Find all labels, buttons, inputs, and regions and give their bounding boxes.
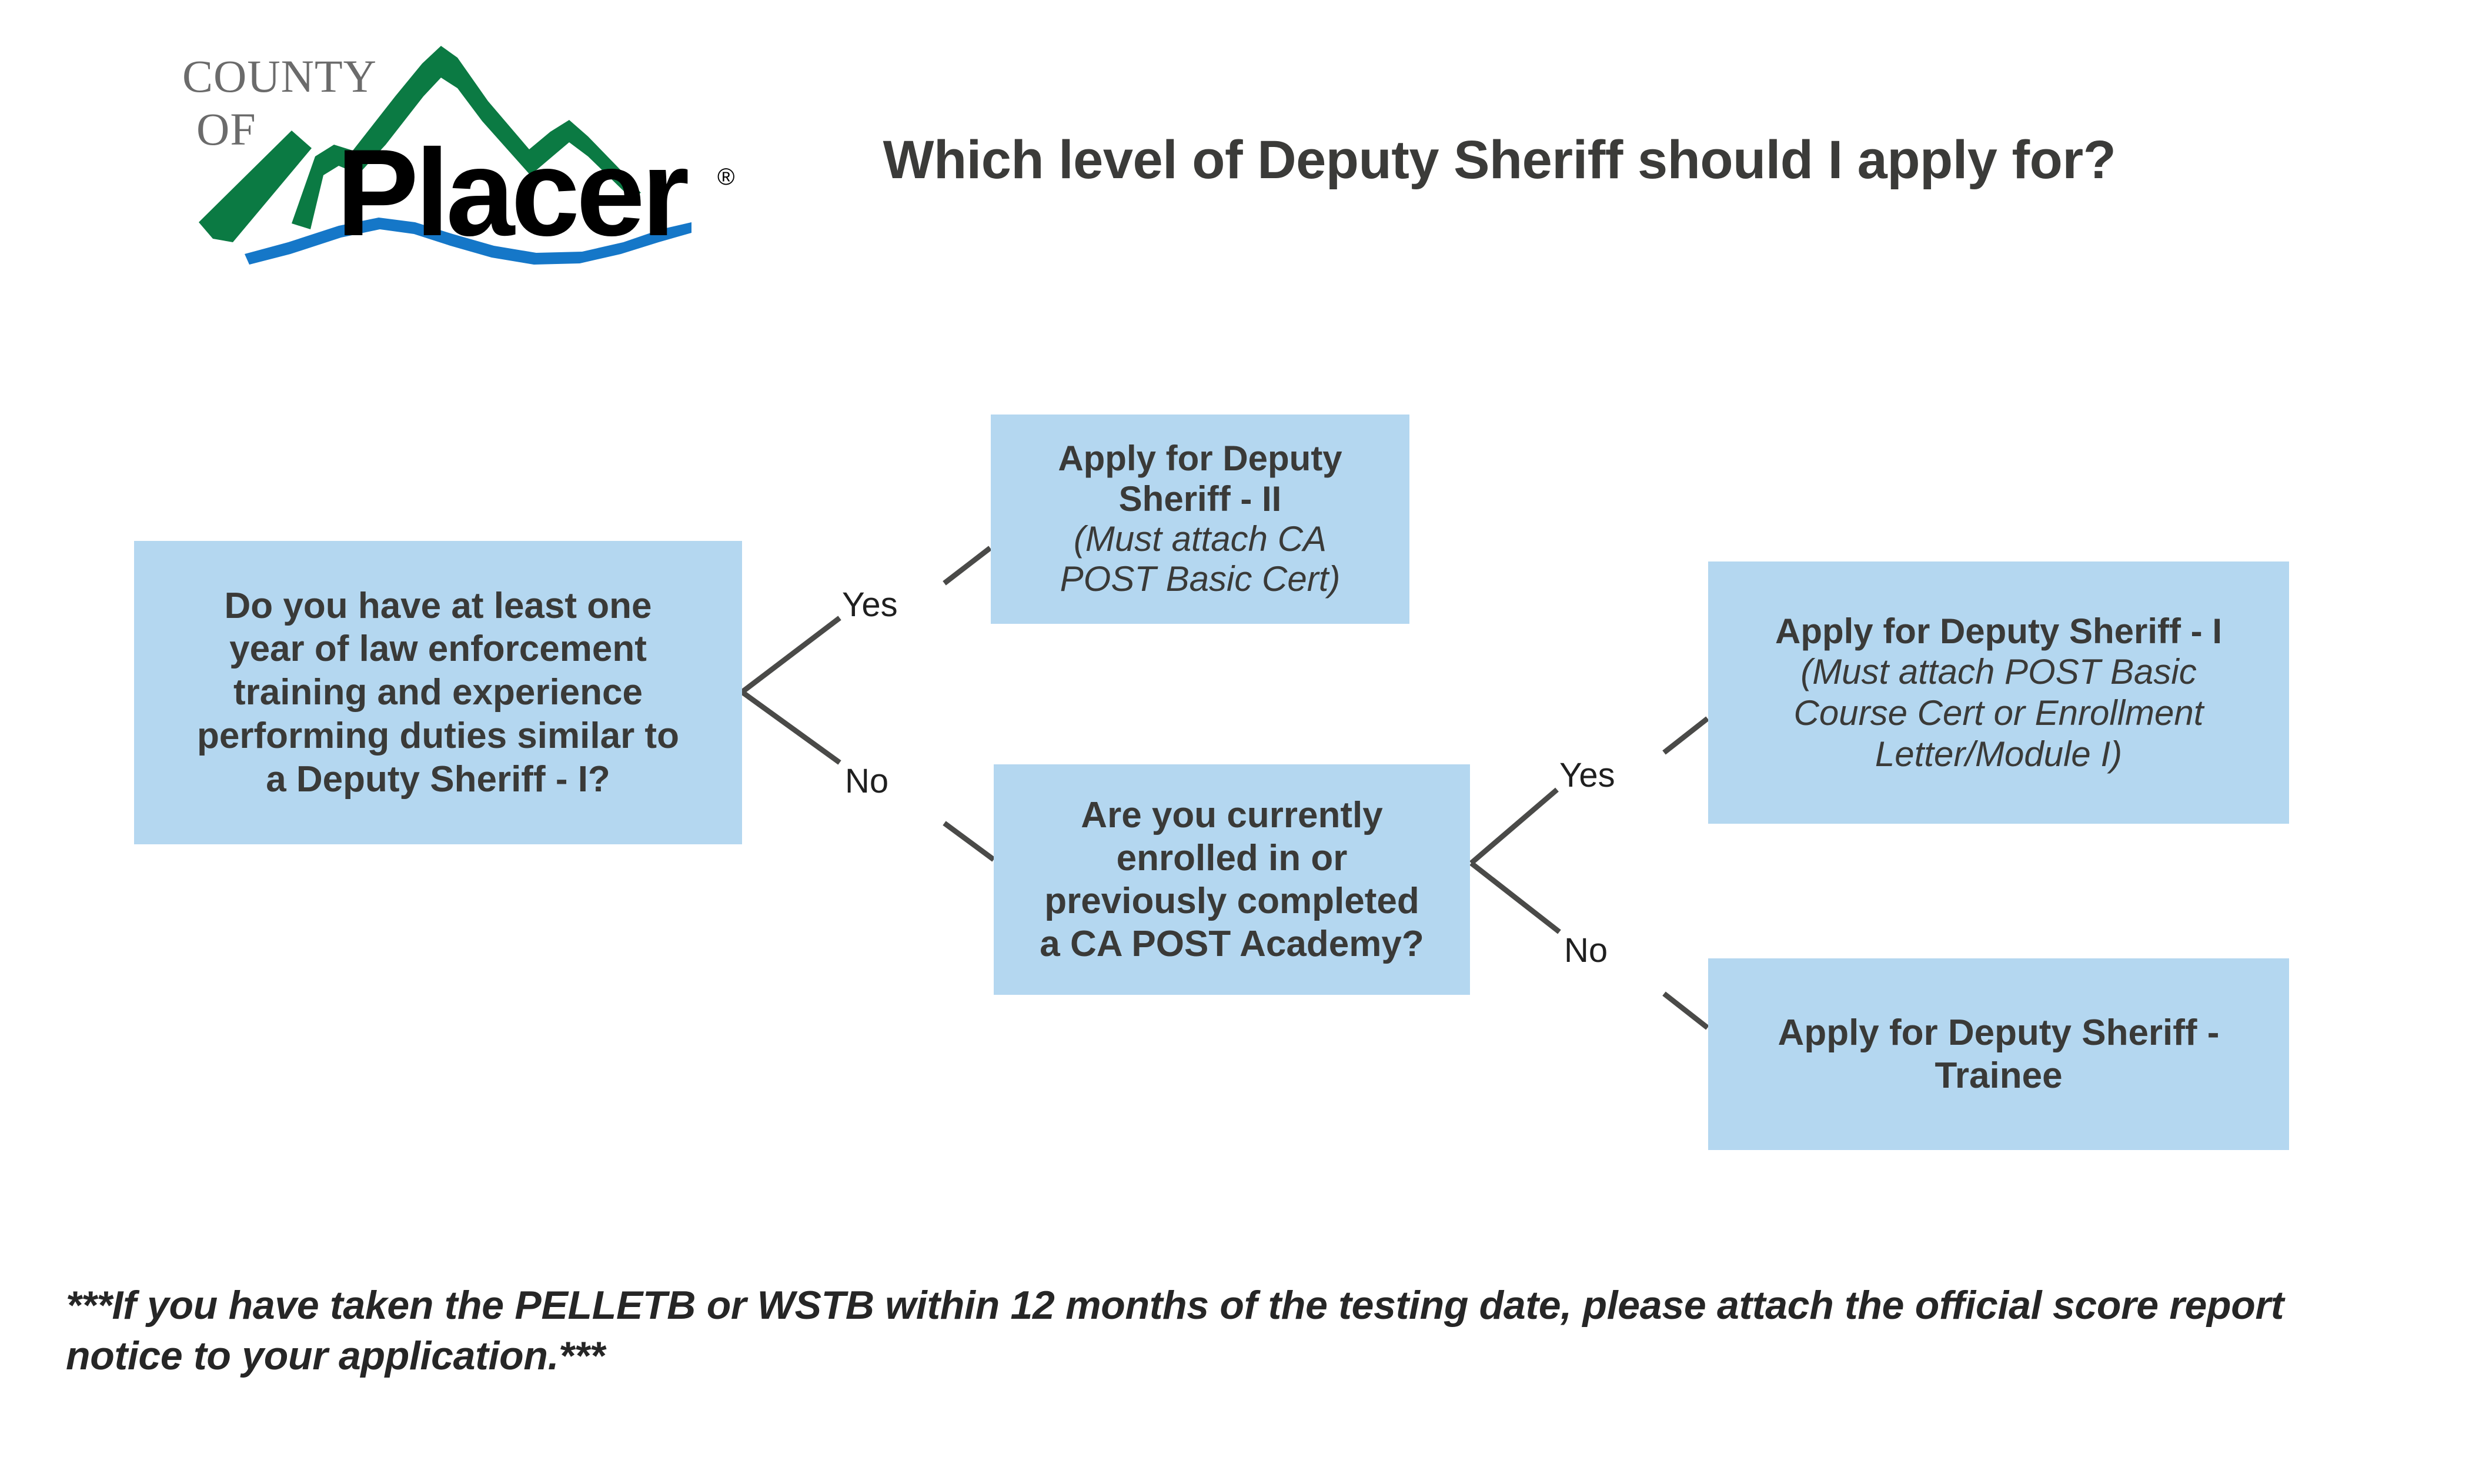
decision2-line-2: enrolled in or <box>1000 837 1464 880</box>
decision-box-academy: Are you currently enrolled in or previou… <box>994 764 1470 995</box>
outcome-box-deputy-sheriff-1: Apply for Deputy Sheriff - I (Must attac… <box>1708 561 2289 824</box>
ds1-note-line-1: (Must attach POST Basic <box>1714 651 2283 693</box>
branch-label-decision1-no: No <box>845 764 888 798</box>
ds1-note-line-3: Letter/Module I) <box>1714 734 2283 775</box>
edge-d2-yes-b <box>1664 718 1708 753</box>
outcome-box-deputy-sheriff-trainee: Apply for Deputy Sheriff - Trainee <box>1708 958 2289 1150</box>
ds2-note-line-2: POST Basic Cert) <box>997 559 1404 599</box>
registered-mark-icon: ® <box>717 164 734 190</box>
ds2-heading-line-2: Sheriff - II <box>997 479 1404 519</box>
edge-d2-no-a <box>1471 863 1559 932</box>
edge-d2-no-b <box>1664 994 1708 1028</box>
logo-of-line: OF <box>196 103 256 155</box>
decision1-line-4: performing duties similar to <box>140 714 736 758</box>
placer-county-logo: COUNTY OF Placer ® <box>176 35 753 282</box>
decision1-line-1: Do you have at least one <box>140 584 736 628</box>
decision-box-experience: Do you have at least one year of law enf… <box>134 541 742 844</box>
footnote-line-2: notice to your application.*** <box>66 1331 2418 1382</box>
ds2-heading-line-1: Apply for Deputy <box>997 439 1404 479</box>
decision2-line-1: Are you currently <box>1000 794 1464 837</box>
footnote-line-1: ***If you have taken the PELLETB or WSTB… <box>66 1281 2418 1331</box>
footnote-note: ***If you have taken the PELLETB or WSTB… <box>66 1281 2418 1381</box>
ds1-note-line-2: Course Cert or Enrollment <box>1714 693 2283 734</box>
edge-d1-no-a <box>742 692 840 763</box>
branch-label-decision2-yes: Yes <box>1559 758 1615 793</box>
flowchart-page: COUNTY OF Placer ® Which level of Deputy… <box>0 0 2479 1484</box>
decision1-line-2: year of law enforcement <box>140 627 736 671</box>
edge-d1-no-b <box>944 823 994 860</box>
edge-d2-yes-a <box>1471 790 1557 863</box>
trainee-heading-line-1: Apply for Deputy Sheriff - <box>1714 1011 2283 1054</box>
logo-wordmark: Placer <box>336 123 688 262</box>
outcome-box-deputy-sheriff-2: Apply for Deputy Sheriff - II (Must atta… <box>991 415 1409 624</box>
decision1-line-5: a Deputy Sheriff - I? <box>140 758 736 801</box>
edge-d1-yes-a <box>742 618 840 692</box>
decision2-line-4: a CA POST Academy? <box>1000 923 1464 965</box>
logo-county-line: COUNTY <box>182 51 377 102</box>
branch-label-decision2-no: No <box>1564 934 1608 968</box>
ds2-note-line-1: (Must attach CA <box>997 519 1404 559</box>
decision1-line-3: training and experience <box>140 671 736 714</box>
edge-d1-yes-b <box>944 548 990 583</box>
ds1-heading-line-1: Apply for Deputy Sheriff - I <box>1714 611 2283 652</box>
branch-label-decision1-yes: Yes <box>842 588 898 622</box>
decision2-line-3: previously completed <box>1000 880 1464 923</box>
page-title: Which level of Deputy Sheriff should I a… <box>788 131 2211 190</box>
trainee-heading-line-2: Trainee <box>1714 1054 2283 1097</box>
